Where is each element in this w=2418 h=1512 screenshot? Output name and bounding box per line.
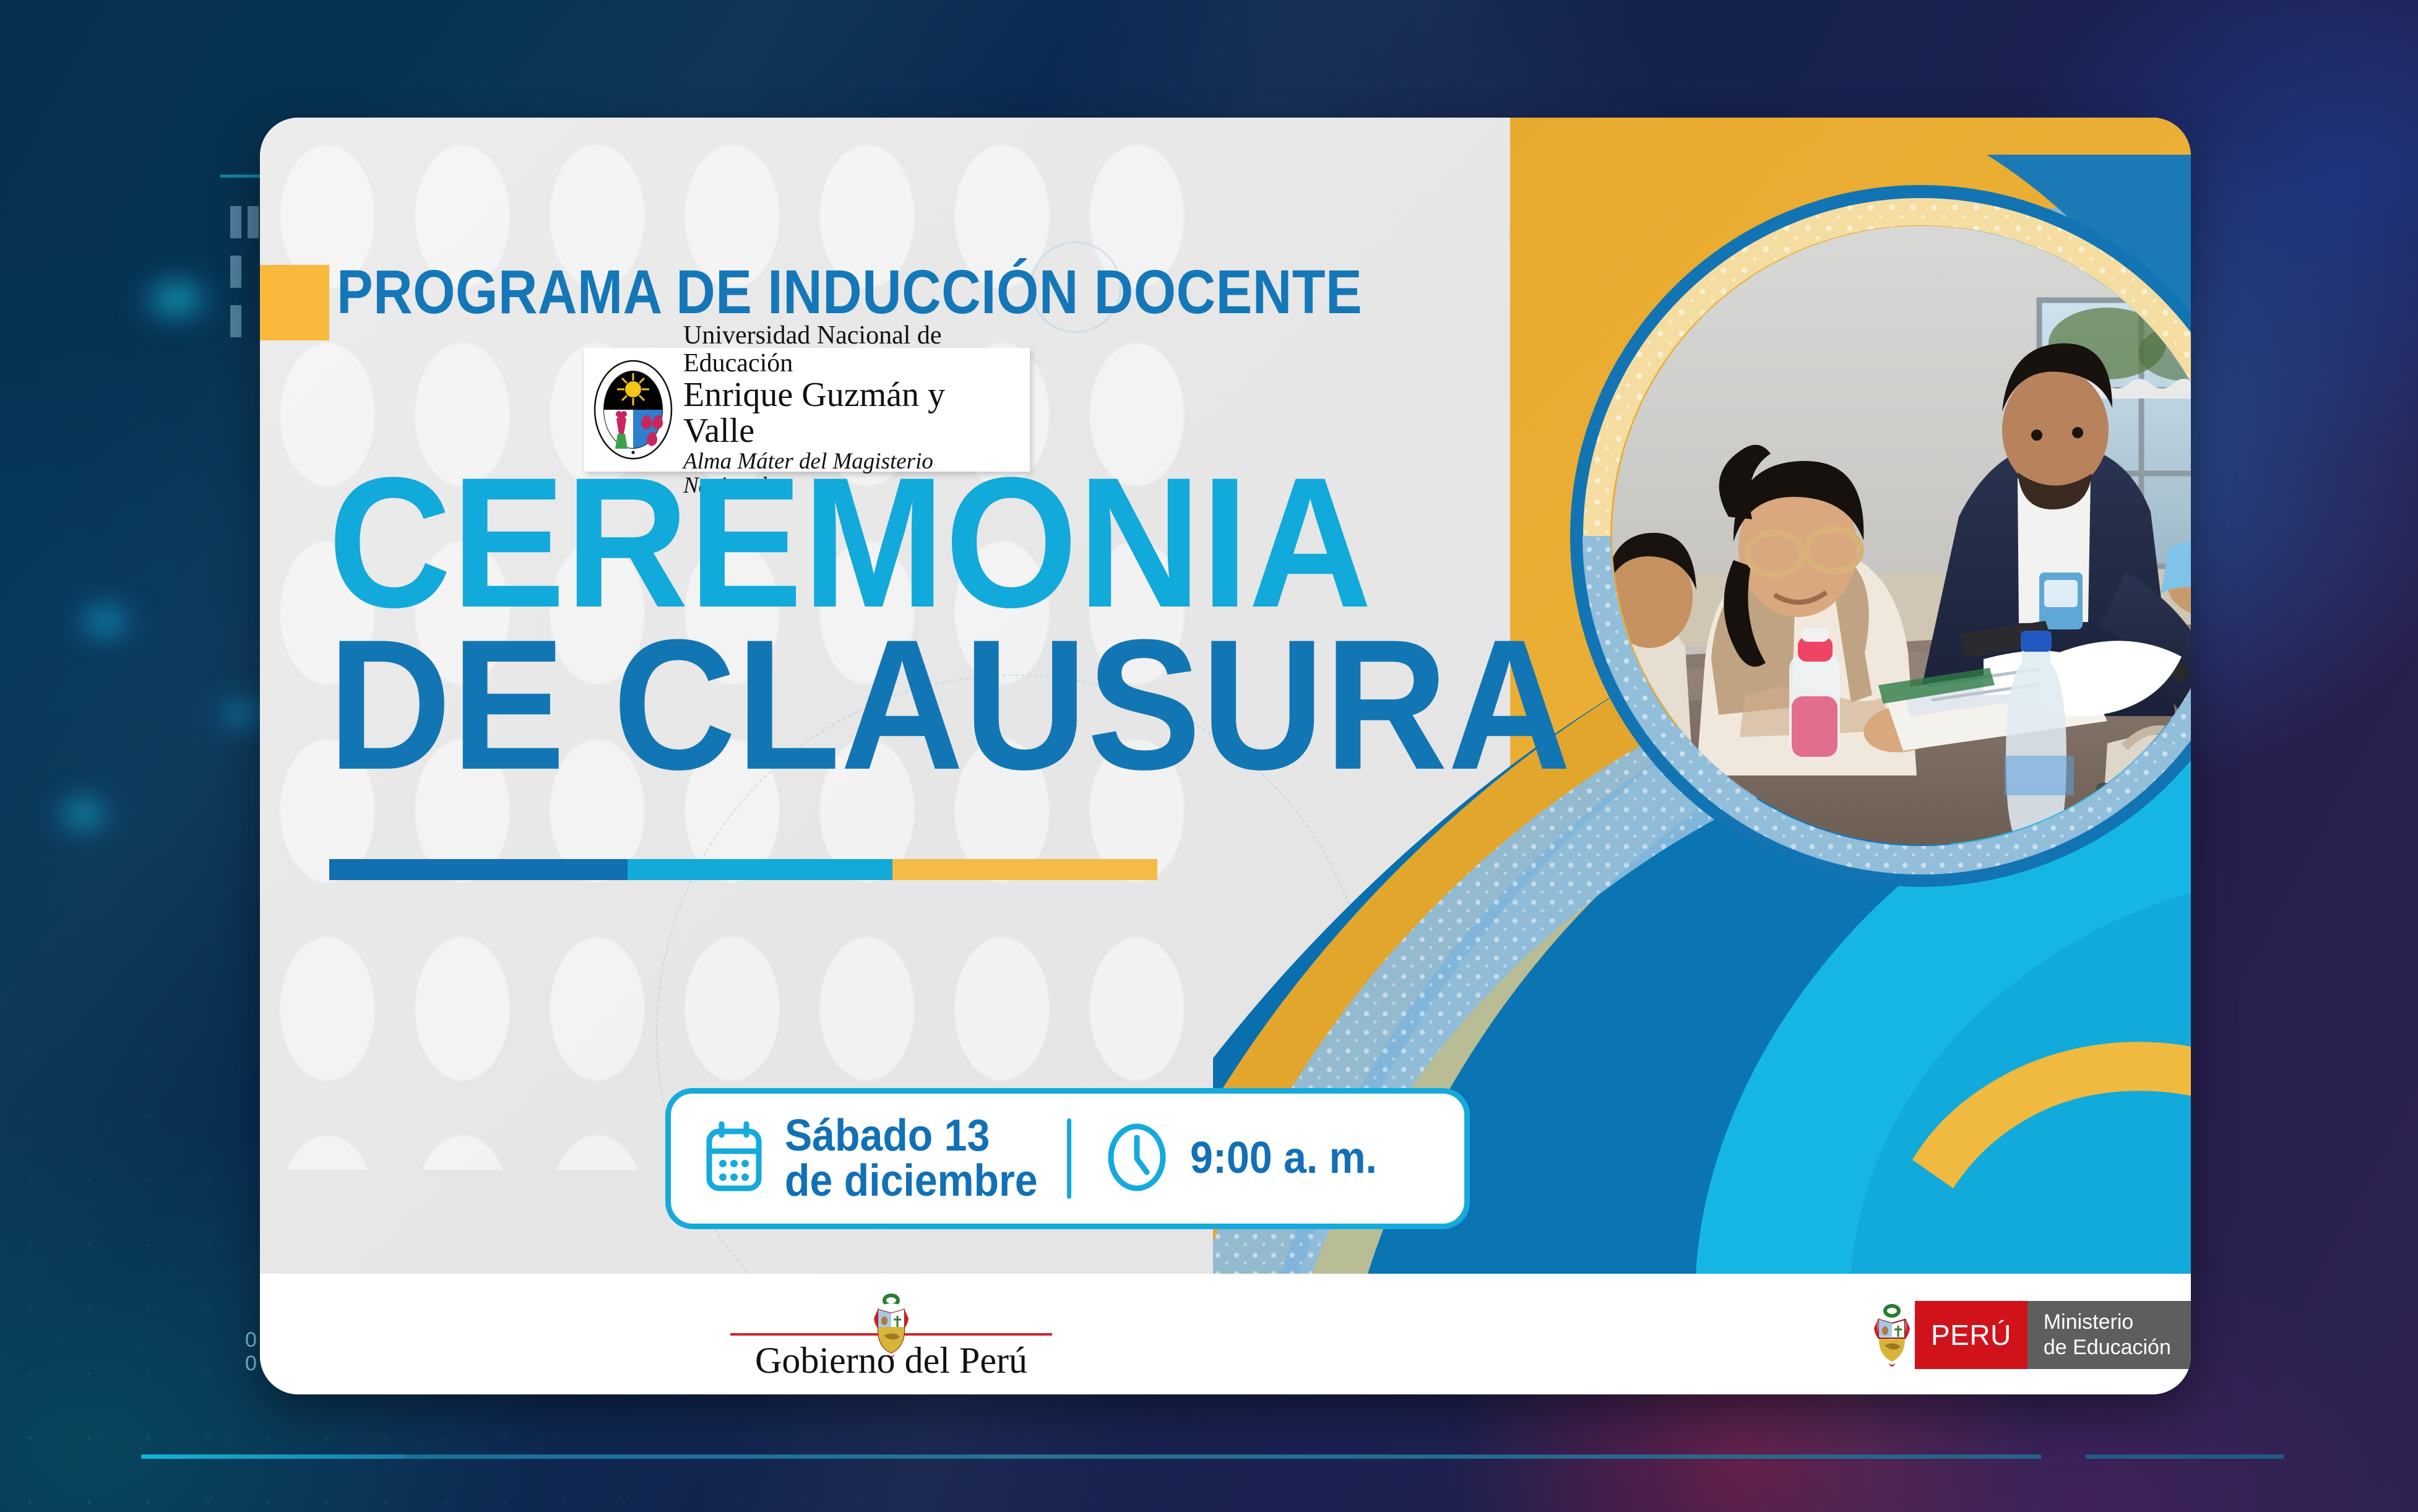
background-accent-line <box>141 1454 407 1459</box>
edge-tick-mark <box>230 256 241 288</box>
minedu-line2: de Educación <box>2044 1335 2191 1360</box>
schedule-pill: Sábado 13 de diciembre 9:00 a. m. <box>665 1088 1470 1229</box>
event-photo-illustration <box>1612 226 2191 845</box>
minedu-name: Ministerio de Educación <box>2027 1301 2191 1369</box>
gobierno-label: Gobierno del Perú <box>730 1342 1052 1379</box>
clock-icon <box>1105 1121 1169 1196</box>
schedule-time-group: 9:00 a. m. <box>1071 1094 1427 1224</box>
schedule-date-line2: de diciembre <box>785 1156 1038 1206</box>
gobierno-del-peru-logo: Gobierno del Perú <box>730 1287 1052 1380</box>
schedule-divider <box>1067 1118 1071 1199</box>
schedule-time-text: 9:00 a. m. <box>1190 1136 1377 1181</box>
poster-card: PROGRAMA DE INDUCCIÓN DOCENTE <box>260 118 2191 1394</box>
underline-segment-yellow <box>892 859 1157 880</box>
schedule-date-text: Sábado 13 de diciembre <box>785 1113 1038 1204</box>
headline-accent-tab <box>260 265 329 340</box>
underline-segment-cyan <box>628 859 892 880</box>
university-name-line1: Universidad Nacional de Educación <box>683 322 1021 377</box>
minedu-line1: Ministerio <box>2044 1310 2191 1335</box>
background-glow <box>37 798 130 829</box>
background-accent-line <box>407 1454 2041 1459</box>
minedu-country-label: PERÚ <box>1915 1301 2027 1369</box>
background-glow <box>62 607 149 636</box>
title-underline-bar <box>329 859 1157 880</box>
minedu-logo: PERÚ Ministerio de Educación <box>1869 1301 2191 1369</box>
background-zero-glyph: 0 <box>245 1353 257 1374</box>
schedule-date-line1: Sábado 13 <box>785 1111 990 1160</box>
background-glow <box>124 282 229 316</box>
calendar-icon <box>704 1121 764 1196</box>
edge-tick-mark <box>230 305 241 337</box>
poster-canvas: 0 0 <box>0 0 2418 1512</box>
peru-coat-of-arms-icon <box>1869 1301 1915 1369</box>
background-zero-glyph: 0 <box>245 1329 257 1350</box>
underline-segment-blue <box>329 859 628 880</box>
title-line-1: CEREMONIA <box>328 464 1372 620</box>
schedule-date-group: Sábado 13 de diciembre <box>671 1094 1067 1224</box>
edge-tick-mark <box>248 206 259 238</box>
event-photo <box>1612 226 2191 845</box>
edge-tick-mark <box>230 206 241 238</box>
background-accent-line <box>2086 1454 2284 1459</box>
poster-footer: Gobierno del Perú <box>260 1274 2191 1394</box>
page-kicker: PROGRAMA DE INDUCCIÓN DOCENTE <box>337 261 1362 323</box>
title-line-2: DE CLAUSURA <box>328 626 1571 782</box>
